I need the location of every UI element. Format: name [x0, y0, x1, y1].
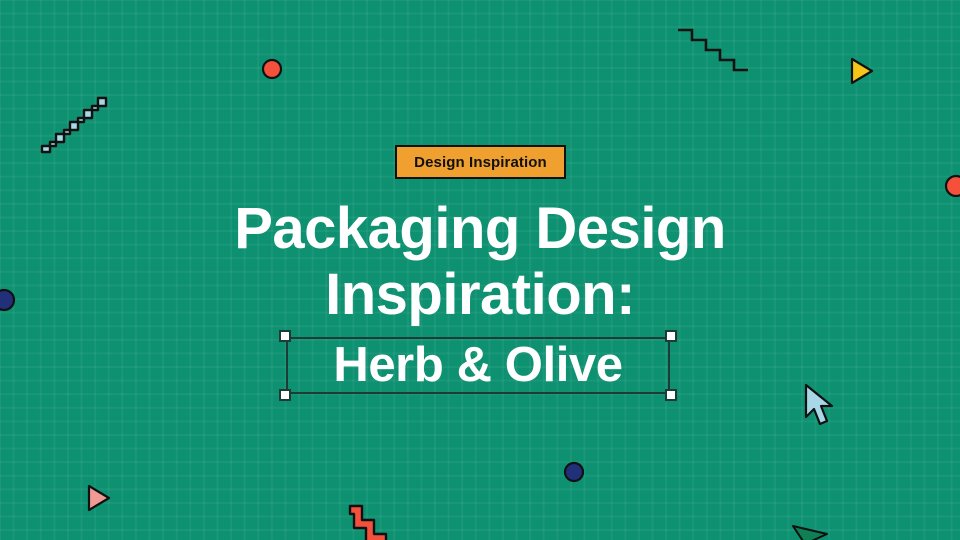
zigzag-coral-bottom-icon	[348, 502, 412, 540]
resize-handle-top-left[interactable]	[279, 330, 291, 342]
headline-line-2: Inspiration:	[0, 262, 960, 328]
circle-navy-bottom-icon	[563, 461, 585, 483]
subtitle-textbox-selected[interactable]: Herb & Olive	[286, 337, 670, 394]
triangle-pink-bottom-left-icon	[86, 484, 112, 512]
slide-canvas[interactable]: Design Inspiration Packaging Design Insp…	[0, 0, 960, 540]
zigzag-lightblue-top-left-icon	[40, 96, 112, 152]
resize-handle-bottom-right[interactable]	[665, 389, 677, 401]
circle-coral-right-icon	[944, 174, 960, 198]
page-title[interactable]: Packaging Design Inspiration:	[0, 196, 960, 328]
badge-label: Design Inspiration	[414, 155, 547, 170]
circle-coral-top-icon	[261, 58, 283, 80]
subtitle-text: Herb & Olive	[286, 337, 670, 394]
triangle-yellow-top-right-icon	[849, 57, 875, 85]
triangle-green-bottom-right-icon	[791, 522, 831, 540]
resize-handle-bottom-left[interactable]	[279, 389, 291, 401]
design-inspiration-badge[interactable]: Design Inspiration	[395, 145, 566, 179]
headline-line-1: Packaging Design	[0, 196, 960, 262]
mouse-cursor-icon	[803, 383, 837, 432]
resize-handle-top-right[interactable]	[665, 330, 677, 342]
zigzag-outline-top-right-icon	[676, 26, 752, 74]
